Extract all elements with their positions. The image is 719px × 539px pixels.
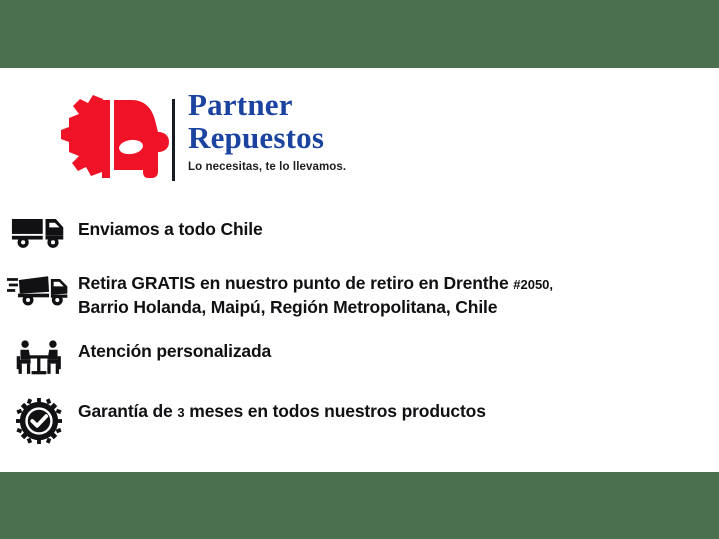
warranty-months: 3 — [177, 405, 184, 420]
pickup-text-line2: Barrio Holanda, Maipú, Región Metropolit… — [78, 296, 553, 318]
feature-row-shipping: Enviamos a todo Chile — [0, 216, 719, 250]
brand-logo: Partner Repuestos Lo necesitas, te lo ll… — [0, 88, 719, 190]
promo-banner: Partner Repuestos Lo necesitas, te lo ll… — [0, 0, 719, 539]
delivery-truck-icon — [0, 216, 78, 250]
bottom-green-band — [0, 472, 719, 539]
logo-tagline: Lo necesitas, te lo llevamos. — [188, 161, 346, 173]
feature-row-pickup: Retira GRATIS en nuestro punto de retiro… — [0, 270, 719, 318]
logo-wordmark: Partner Repuestos Lo necesitas, te lo ll… — [188, 88, 346, 173]
gear-car-logo-icon — [58, 92, 172, 186]
warranty-text-part1: Garantía de — [78, 401, 177, 421]
logo-name-line2: Repuestos — [188, 121, 346, 154]
pickup-text-part1: Retira GRATIS en nuestro punto de retiro… — [78, 273, 513, 293]
top-green-band — [0, 0, 719, 68]
feature-label-pickup: Retira GRATIS en nuestro punto de retiro… — [78, 270, 553, 318]
feature-label-warranty: Garantía de 3 meses en todos nuestros pr… — [78, 398, 486, 424]
feature-row-warranty: Garantía de 3 meses en todos nuestros pr… — [0, 398, 719, 444]
warranty-text-part2: meses en todos nuestros productos — [185, 401, 486, 421]
feature-row-support: Atención personalizada — [0, 338, 719, 380]
feature-label-support: Atención personalizada — [78, 338, 271, 362]
logo-name-line1: Partner — [188, 88, 346, 121]
guarantee-badge-check-icon — [0, 398, 78, 444]
feature-label-shipping: Enviamos a todo Chile — [78, 216, 263, 240]
logo-divider — [172, 99, 175, 181]
meeting-table-icon — [0, 338, 78, 380]
pickup-address-number: #2050, — [513, 277, 553, 292]
moving-truck-icon — [0, 270, 78, 310]
